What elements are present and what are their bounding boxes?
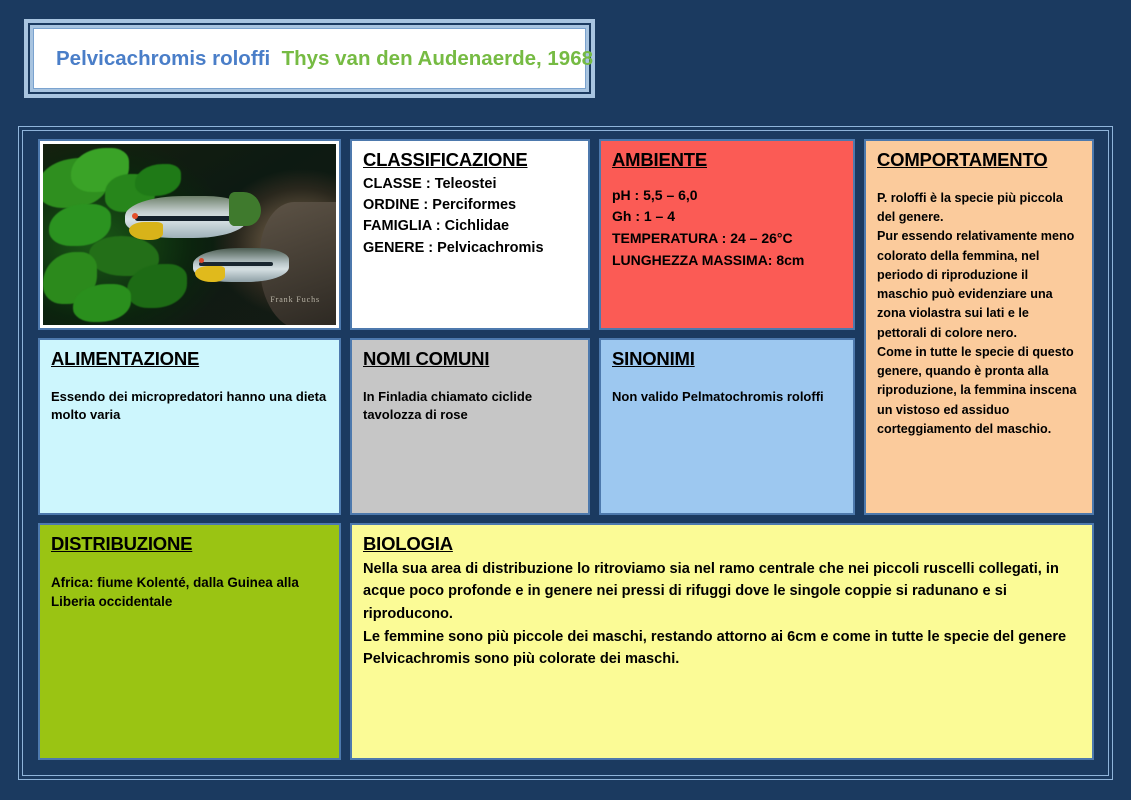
card-distribuzione-text: Africa: fiume Kolenté, dalla Guinea alla… [51,573,328,611]
card-distribuzione-heading: DISTRIBUZIONE [51,534,192,555]
card-nomi-comuni-text: In Finladia chiamato ciclide tavolozza d… [363,388,577,425]
card-sinonimi-heading: SINONIMI [612,349,695,370]
card-alimentazione-heading: ALIMENTAZIONE [51,349,199,370]
card-nomi-comuni: NOMI COMUNI In Finladia chiamato ciclide… [350,338,590,515]
ambiente-row: Gh : 1 – 4 [612,206,842,228]
fish-eye [199,258,204,263]
card-comportamento-body: COMPORTAMENTO P. roloffi è la specie più… [866,141,1092,513]
species-name: Pelvicachromis roloffi [56,47,270,70]
species-author: Thys van den Audenaerde, 1968 [282,47,593,70]
card-sinonimi-body: SINONIMI Non valido Pelmatochromis rolof… [601,340,853,513]
species-photo: Frank Fuchs [40,141,339,328]
title-plaque: Pelvicachromis roloffi Thys van den Aude… [22,17,597,100]
card-comportamento: COMPORTAMENTO P. roloffi è la specie più… [864,139,1094,515]
card-distribuzione: DISTRIBUZIONE Africa: fiume Kolenté, dal… [38,523,341,760]
card-biologia-heading: BIOLOGIA [363,534,453,555]
card-alimentazione-text: Essendo dei micropredatori hanno una die… [51,388,328,425]
card-alimentazione-body: ALIMENTAZIONE Essendo dei micropredatori… [40,340,339,513]
classificazione-row: ORDINE : Perciformes [363,195,577,216]
card-ambiente-heading: AMBIENTE [612,150,707,171]
fish-belly [195,266,225,282]
classificazione-row: FAMIGLIA : Cichlidae [363,216,577,237]
leaf-icon [135,164,181,196]
card-classificazione-heading: CLASSIFICAZIONE [363,150,528,171]
species-photo-card: Frank Fuchs [38,139,341,330]
main-panel-inner: Frank Fuchs CLASSIFICAZIONE CLASSE : Tel… [22,130,1109,776]
photo-watermark: Frank Fuchs [270,295,320,304]
ambiente-row: LUNGHEZZA MASSIMA: 8cm [612,250,842,272]
card-alimentazione: ALIMENTAZIONE Essendo dei micropredatori… [38,338,341,515]
card-ambiente: AMBIENTE pH : 5,5 – 6,0 Gh : 1 – 4 TEMPE… [599,139,855,330]
card-biologia-body: BIOLOGIA Nella sua area di distribuzione… [352,525,1092,758]
card-classificazione-body: CLASSIFICAZIONE CLASSE : Teleostei ORDIN… [352,141,588,328]
card-sinonimi: SINONIMI Non valido Pelmatochromis rolof… [599,338,855,515]
fish-tail [229,192,261,226]
card-nomi-comuni-body: NOMI COMUNI In Finladia chiamato ciclide… [352,340,588,513]
card-biologia: BIOLOGIA Nella sua area di distribuzione… [350,523,1094,760]
card-biologia-text: Nella sua area di distribuzione lo ritro… [363,558,1081,671]
card-sinonimi-text: Non valido Pelmatochromis roloffi [612,388,842,406]
page-title: Pelvicachromis roloffi Thys van den Aude… [56,47,593,71]
fish-lateral-stripe [135,216,233,221]
classificazione-list: CLASSE : Teleostei ORDINE : Perciformes … [363,174,577,259]
card-comportamento-heading: COMPORTAMENTO [877,150,1047,171]
title-plaque-border: Pelvicachromis roloffi Thys van den Aude… [28,23,591,94]
card-distribuzione-body: DISTRIBUZIONE Africa: fiume Kolenté, dal… [40,525,339,758]
ambiente-row: TEMPERATURA : 24 – 26°C [612,228,842,250]
ambiente-row: pH : 5,5 – 6,0 [612,185,842,207]
fish-belly [129,222,163,240]
main-panel: Frank Fuchs CLASSIFICAZIONE CLASSE : Tel… [18,126,1113,780]
card-classificazione: CLASSIFICAZIONE CLASSE : Teleostei ORDIN… [350,139,590,330]
photo-scene: Frank Fuchs [43,144,336,325]
ambiente-list: pH : 5,5 – 6,0 Gh : 1 – 4 TEMPERATURA : … [612,185,842,272]
card-comportamento-text: P. roloffi è la specie più piccola del g… [877,189,1081,439]
classificazione-row: CLASSE : Teleostei [363,174,577,195]
classificazione-row: GENERE : Pelvicachromis [363,238,577,259]
card-nomi-comuni-heading: NOMI COMUNI [363,349,489,370]
title-plaque-content: Pelvicachromis roloffi Thys van den Aude… [33,28,586,89]
card-ambiente-body: AMBIENTE pH : 5,5 – 6,0 Gh : 1 – 4 TEMPE… [601,141,853,328]
fish-eye [132,213,138,219]
